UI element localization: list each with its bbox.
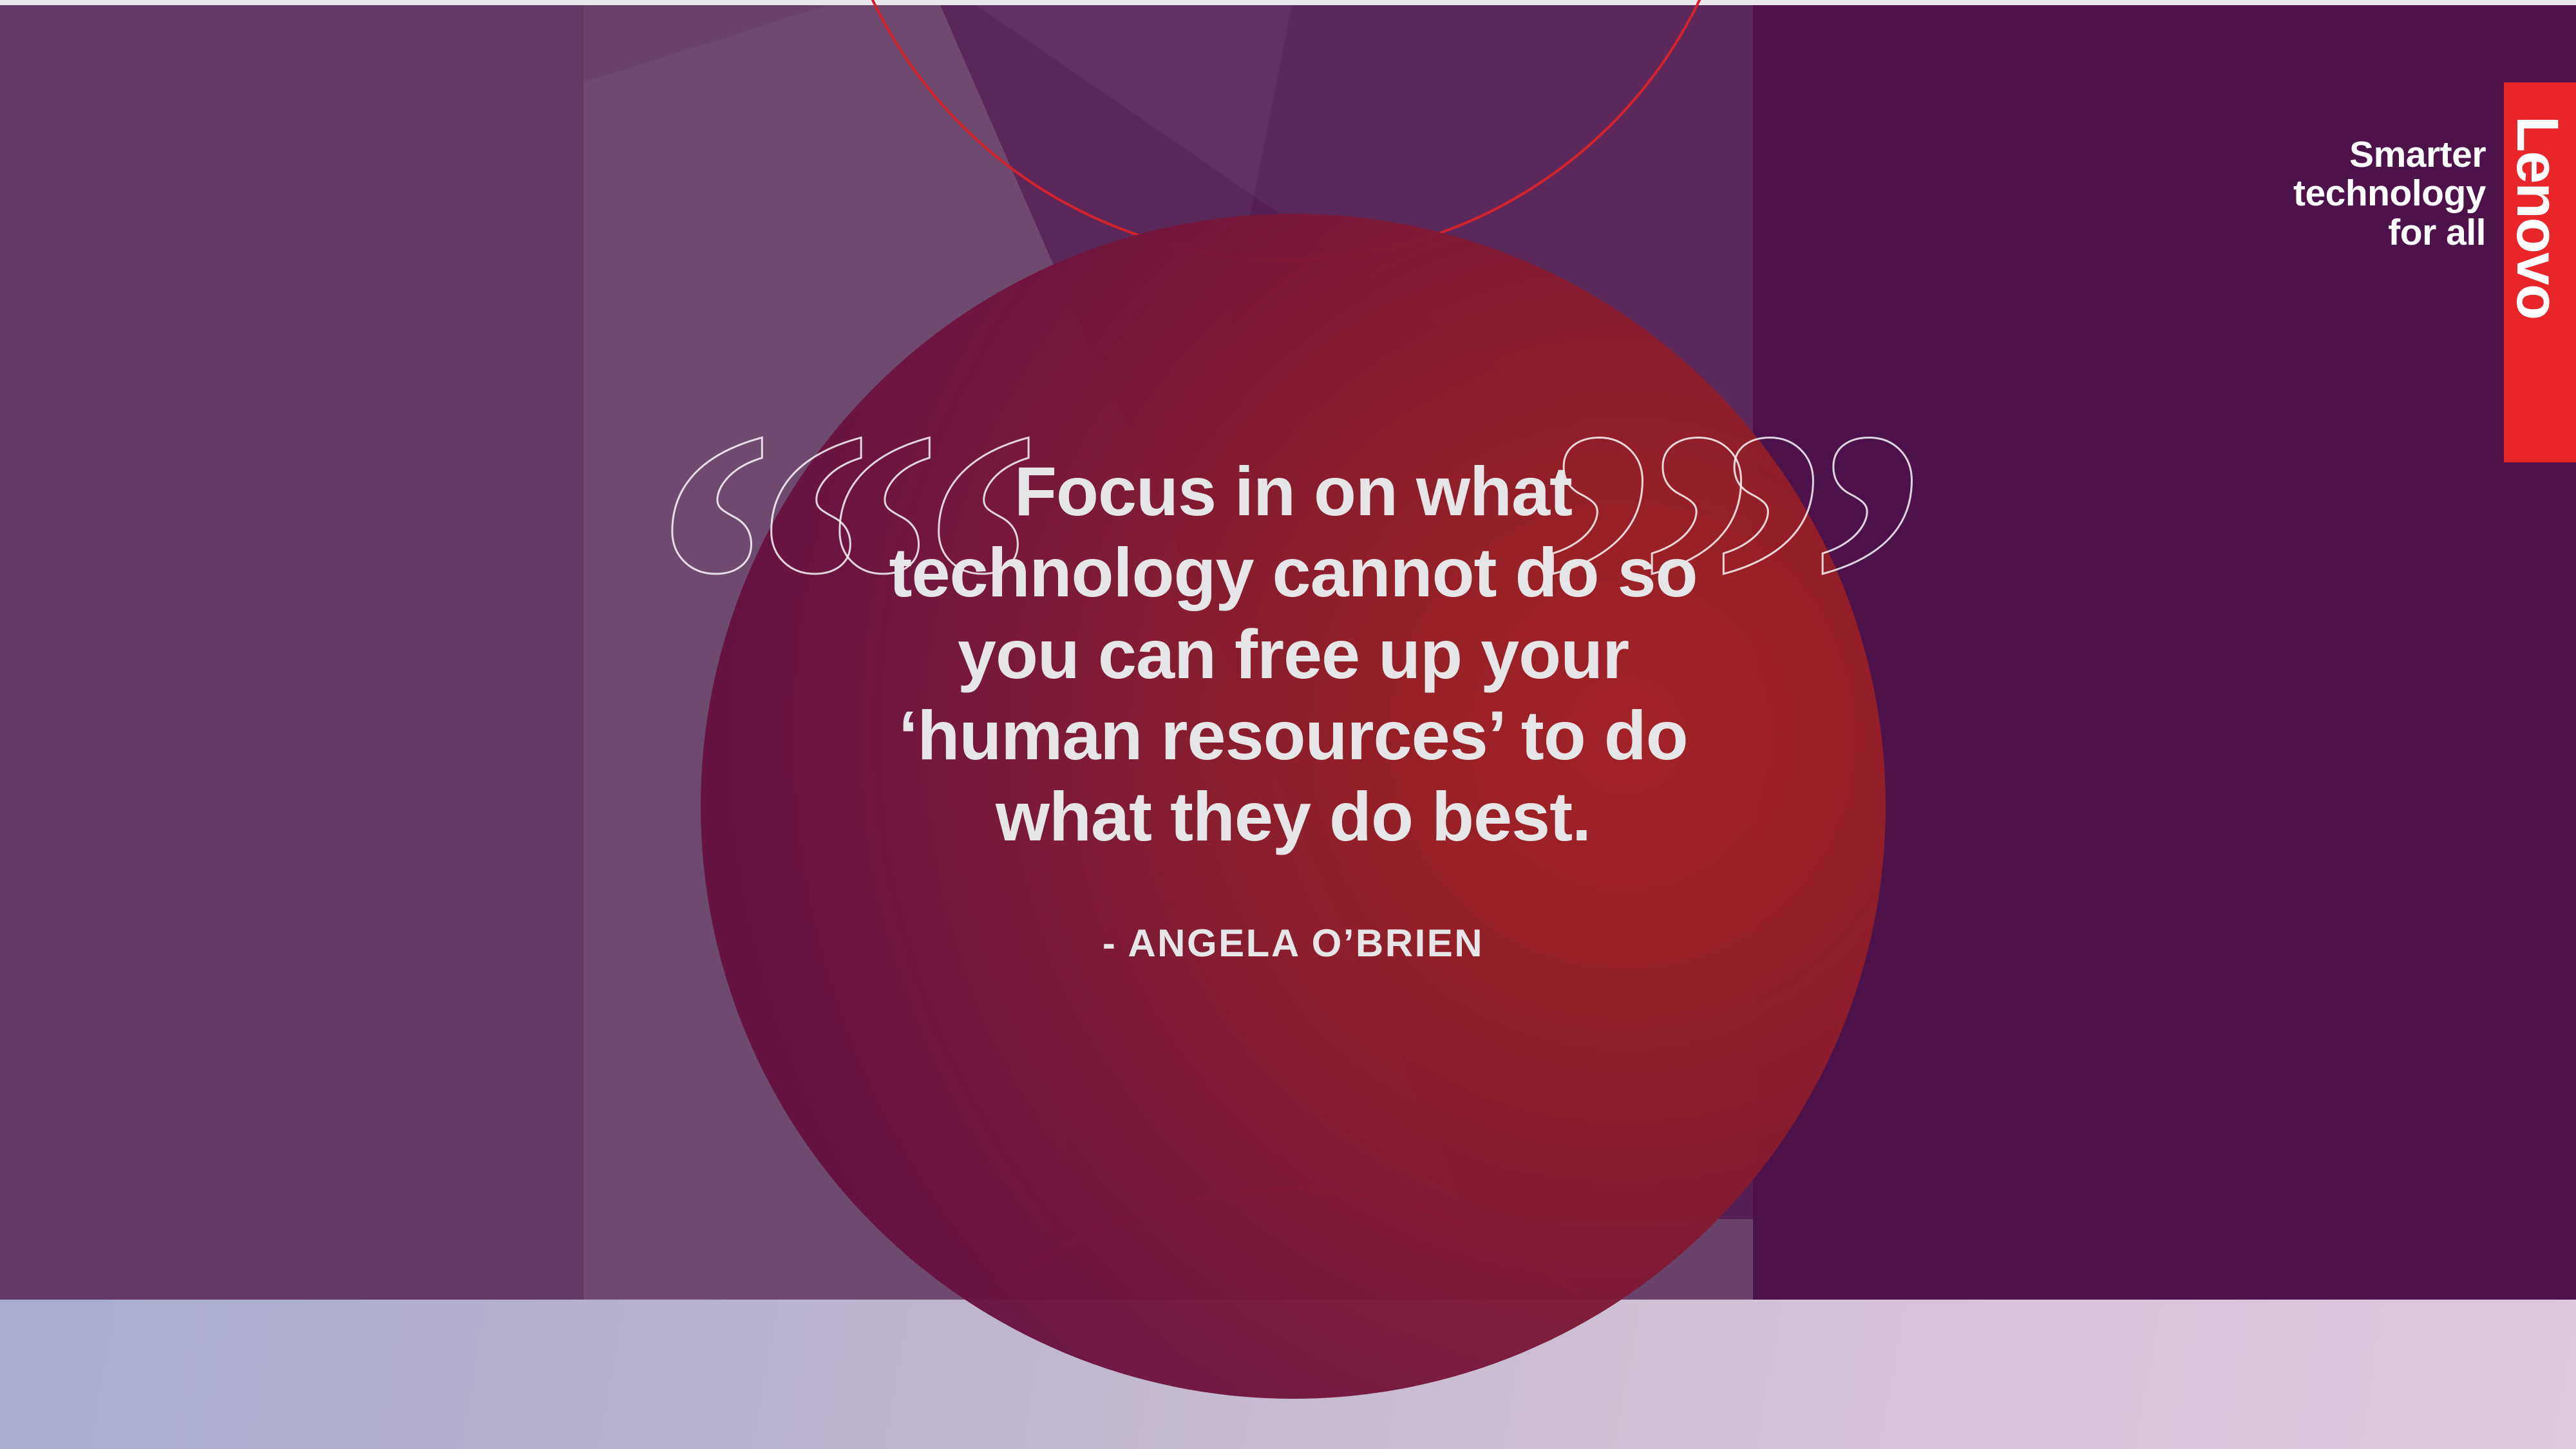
- quote-block: Focus in on what technology cannot do so…: [701, 451, 1886, 965]
- brand-lockup: Smarter technology for all Lenovo: [2293, 82, 2576, 462]
- quote-attribution: - ANGELA O’BRIEN: [701, 921, 1886, 965]
- lenovo-logo: Lenovo: [2504, 82, 2576, 462]
- lenovo-wordmark: Lenovo: [2504, 116, 2571, 319]
- quote-slide: “ “ ” ” Focus in on what technology cann…: [0, 0, 2576, 1449]
- quote-text: Focus in on what technology cannot do so…: [701, 451, 1886, 858]
- brand-tagline: Smarter technology for all: [2293, 135, 2486, 252]
